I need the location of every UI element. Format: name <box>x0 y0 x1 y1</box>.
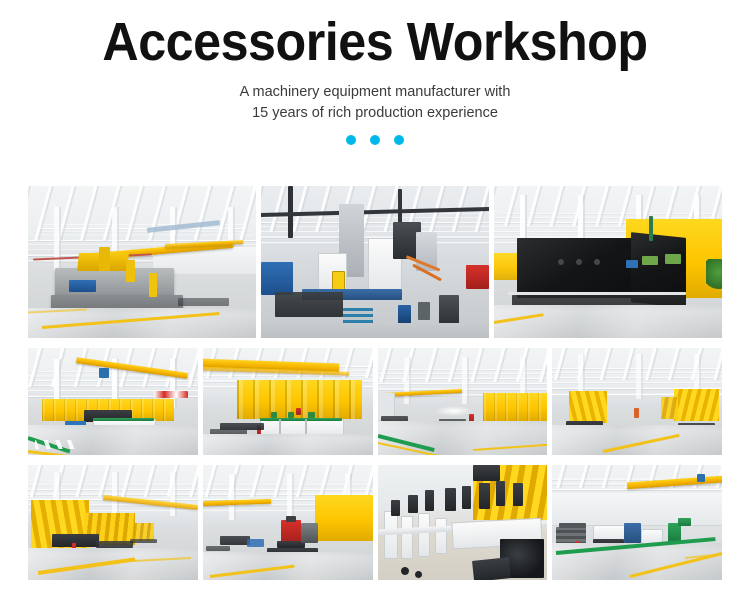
photo-canvas <box>203 348 373 455</box>
photo-canvas <box>28 348 198 455</box>
gallery-image[interactable] <box>378 465 548 580</box>
photo-canvas <box>378 465 548 580</box>
subtitle-line-2: 15 years of rich production experience <box>0 103 750 124</box>
photo-canvas <box>552 348 722 455</box>
gallery-row-bottom <box>28 465 722 580</box>
gallery-image[interactable] <box>552 465 722 580</box>
dot-icon <box>394 135 404 145</box>
decorative-dots <box>0 135 750 145</box>
photo-canvas <box>203 465 373 580</box>
page-title: Accessories Workshop <box>26 14 724 70</box>
dot-icon <box>346 135 356 145</box>
gallery-image[interactable] <box>28 186 256 338</box>
gallery-image[interactable] <box>28 465 198 580</box>
gallery-image[interactable] <box>203 348 373 455</box>
page-subtitle: A machinery equipment manufacturer with … <box>0 82 750 124</box>
gallery-image[interactable] <box>203 465 373 580</box>
gallery-image[interactable] <box>378 348 548 455</box>
gallery-image[interactable] <box>552 348 722 455</box>
page-header: Accessories Workshop A machinery equipme… <box>0 0 750 145</box>
gallery-image[interactable] <box>28 348 198 455</box>
gallery-row-middle <box>28 348 722 455</box>
photo-canvas <box>28 186 256 338</box>
photo-canvas <box>552 465 722 580</box>
photo-canvas <box>28 465 198 580</box>
gallery-row-top <box>28 186 722 338</box>
workshop-photo-gallery <box>28 186 722 590</box>
subtitle-line-1: A machinery equipment manufacturer with <box>0 82 750 103</box>
photo-canvas <box>378 348 548 455</box>
gallery-image[interactable] <box>261 186 489 338</box>
photo-canvas <box>494 186 722 338</box>
gallery-image[interactable] <box>494 186 722 338</box>
photo-canvas <box>261 186 489 338</box>
dot-icon <box>370 135 380 145</box>
